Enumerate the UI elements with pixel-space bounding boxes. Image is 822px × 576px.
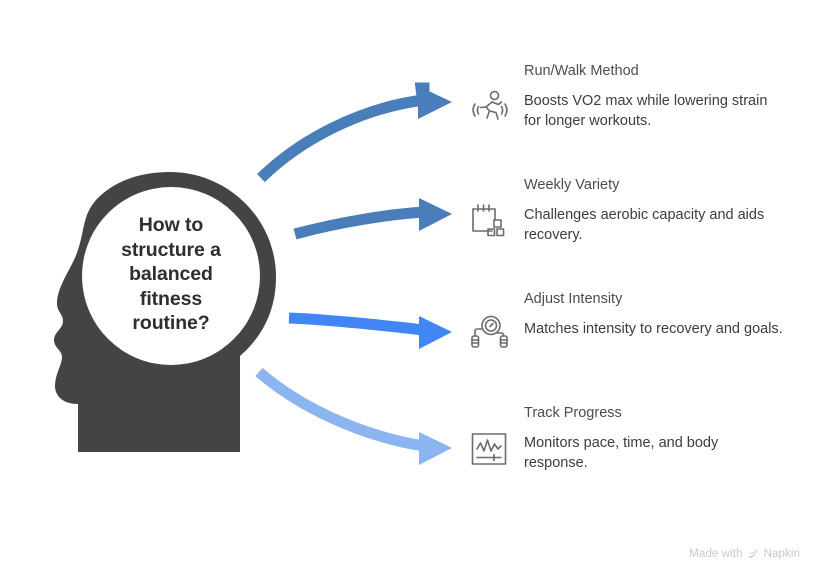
- item-title: Weekly Variety: [524, 176, 806, 194]
- napkin-brand-label: Napkin: [764, 548, 800, 560]
- item-text-block: Run/Walk Method Boosts VO2 max while low…: [524, 62, 806, 131]
- item-description: Matches intensity to recovery and goals.: [524, 319, 784, 339]
- head-silhouette: [54, 172, 276, 452]
- item-text-block: Adjust Intensity Matches intensity to re…: [524, 290, 806, 339]
- progress-monitor-icon: [466, 426, 512, 472]
- calendar-notepad-icon: [466, 198, 512, 244]
- item-description: Challenges aerobic capacity and aids rec…: [524, 205, 784, 245]
- arrow-to-item-2: [289, 316, 452, 349]
- item-title: Run/Walk Method: [524, 62, 806, 80]
- arrow-to-item-3: [259, 372, 452, 465]
- made-with-napkin-watermark: Made with Napkin: [689, 547, 800, 560]
- arrow-to-item-0: [261, 86, 452, 178]
- list-item: Run/Walk Method Boosts VO2 max while low…: [466, 62, 806, 131]
- napkin-leaf-icon: [747, 547, 760, 560]
- item-description: Monitors pace, time, and body response.: [524, 433, 784, 473]
- list-item: Track Progress Monitors pace, time, and …: [466, 404, 806, 473]
- running-person-icon: [466, 84, 512, 130]
- list-item: Weekly Variety Challenges aerobic capaci…: [466, 176, 806, 245]
- item-title: Adjust Intensity: [524, 290, 806, 308]
- intensity-gauge-icon: [466, 312, 512, 358]
- item-text-block: Weekly Variety Challenges aerobic capaci…: [524, 176, 806, 245]
- made-with-label: Made with: [689, 548, 742, 560]
- item-description: Boosts VO2 max while lowering strain for…: [524, 91, 784, 131]
- arrow-to-item-1: [295, 198, 452, 234]
- item-text-block: Track Progress Monitors pace, time, and …: [524, 404, 806, 473]
- item-title: Track Progress: [524, 404, 806, 422]
- list-item: Adjust Intensity Matches intensity to re…: [466, 290, 806, 339]
